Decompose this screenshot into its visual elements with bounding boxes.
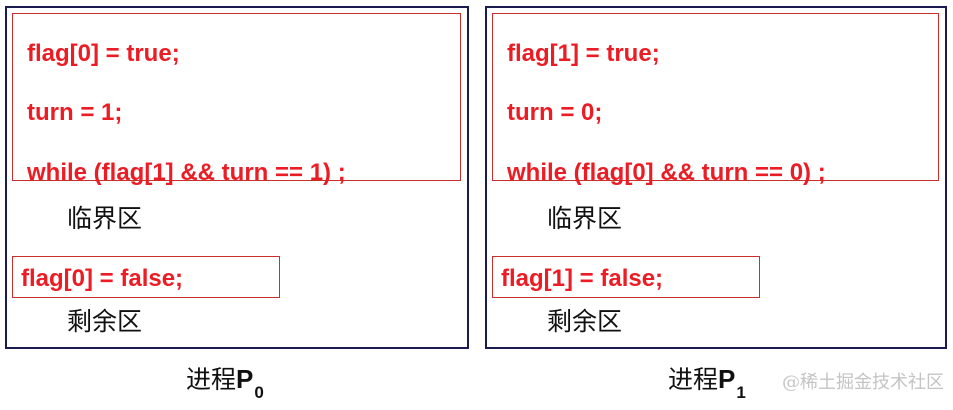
process-caption-p1: 进程P1 [668,366,745,397]
code-line-while-busy-wait-p0: while (flag[1] && turn == 1) ; [27,125,460,185]
critical-section-label-p1: 临界区 [547,206,622,231]
remainder-section-label-p0: 剩余区 [67,309,142,334]
code-line-turn-assign-p1: turn = 0; [507,66,938,125]
process-caption-index-p0: 0 [254,383,263,402]
figure-canvas: flag[0] = true; turn = 1; while (flag[1]… [0,0,953,410]
entry-section-box-p1: flag[1] = true; turn = 0; while (flag[0]… [492,13,939,181]
process-caption-symbol-p1: P [718,364,735,394]
code-line-turn-assign-p0: turn = 1; [27,66,460,125]
process-caption-symbol-p0: P [236,364,253,394]
code-line-flag-set-false-p1: flag[1] = false; [493,257,759,291]
watermark-text: @稀土掘金技术社区 [782,374,944,392]
exit-section-box-p1: flag[1] = false; [492,256,760,298]
entry-section-box-p0: flag[0] = true; turn = 1; while (flag[1]… [12,13,461,181]
code-line-flag-set-true-p1: flag[1] = true; [507,20,938,66]
code-line-while-busy-wait-p1: while (flag[0] && turn == 0) ; [507,125,938,185]
code-line-flag-set-true-p0: flag[0] = true; [27,20,460,66]
process-panel-p0: flag[0] = true; turn = 1; while (flag[1]… [5,6,469,349]
process-caption-p0: 进程P0 [186,366,263,397]
process-caption-prefix-p0: 进程 [186,365,236,394]
process-caption-index-p1: 1 [736,383,745,402]
code-line-flag-set-false-p0: flag[0] = false; [13,257,279,291]
critical-section-label-p0: 临界区 [67,206,142,231]
remainder-section-label-p1: 剩余区 [547,309,622,334]
exit-section-box-p0: flag[0] = false; [12,256,280,298]
process-caption-prefix-p1: 进程 [668,365,718,394]
process-panel-p1: flag[1] = true; turn = 0; while (flag[0]… [485,6,947,349]
